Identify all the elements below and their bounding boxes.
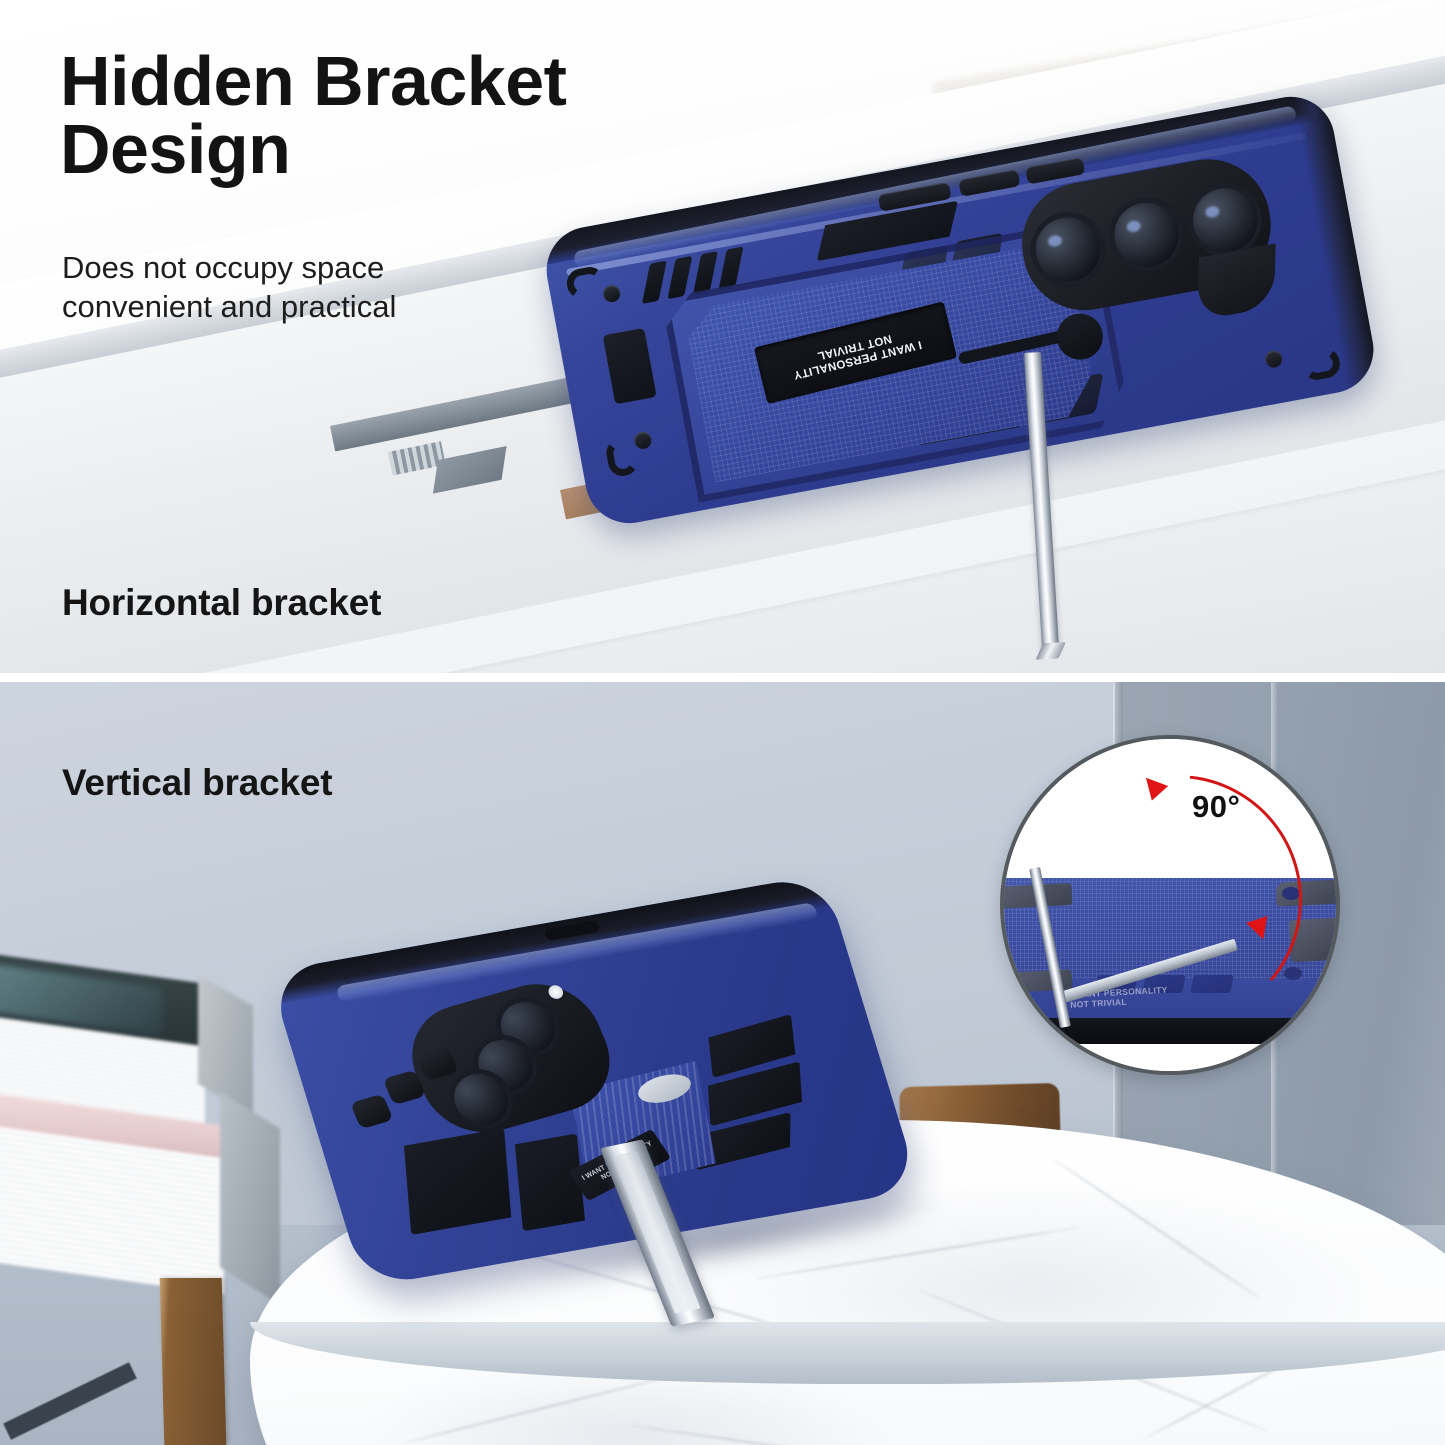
book-stack [0, 968, 260, 1298]
table-leg-left [160, 1278, 227, 1445]
top-panel-horizontal-bracket: I WANT PERSONALITY NOT TRIVIAL Hidden Br… [0, 0, 1445, 673]
panel-divider [0, 673, 1445, 682]
page-title: Hidden Bracket Design [60, 48, 700, 184]
book-bottom-side [220, 1091, 280, 1304]
camera-lens-icon [1025, 206, 1111, 292]
product-infographic: I WANT PERSONALITY NOT TRIVIAL Hidden Br… [0, 0, 1445, 1445]
subtitle-line-2: convenient and practical [62, 289, 396, 324]
angle-detail-inset: I WANT PERSONALITY NOT TRIVIAL 90° [1000, 735, 1340, 1075]
angle-label: 90° [1192, 789, 1240, 825]
corner-hook-icon [1299, 346, 1342, 382]
marble-vein [630, 1424, 1079, 1445]
inset-screw-hole [1284, 967, 1302, 980]
page-subtitle: Does not occupy space convenient and pra… [62, 248, 396, 326]
subtitle-line-1: Does not occupy space [62, 250, 384, 285]
corner-dot-icon [602, 284, 622, 304]
camera-lens-icon [1103, 192, 1189, 278]
caption-vertical-bracket: Vertical bracket [62, 762, 332, 804]
corner-dot-icon [633, 431, 653, 451]
corner-dot-icon [1264, 349, 1284, 369]
marble-vein [1052, 1158, 1262, 1301]
camera-flash-icon [546, 984, 565, 1001]
armor-plate [385, 1128, 530, 1235]
camera-flash-icon [1251, 283, 1266, 298]
inset-foot-white [1004, 1044, 1336, 1071]
armor-plate [603, 328, 657, 404]
marble-vein [405, 1375, 674, 1444]
camera-lens-icon [1182, 177, 1268, 263]
caption-horizontal-bracket: Horizontal bracket [62, 582, 381, 624]
